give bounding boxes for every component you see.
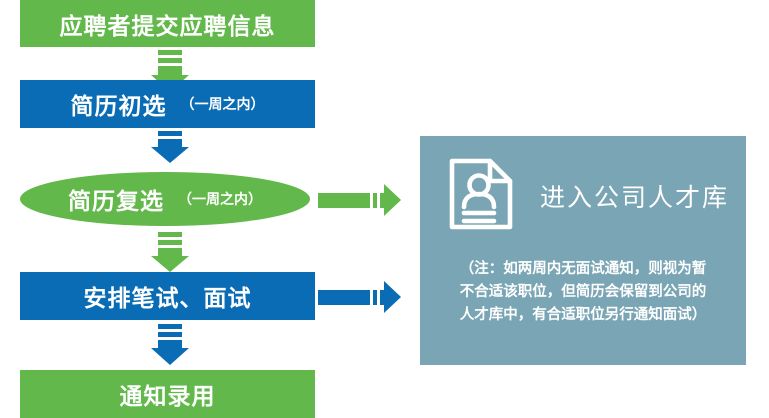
- panel-title: 进入公司人才库: [540, 178, 729, 214]
- connector-stem: [158, 340, 182, 348]
- connector-stem: [158, 139, 182, 147]
- panel-note-line: （注：如两周内无面试通知，则视为暂: [420, 258, 746, 281]
- flow-step-4-label: 安排笔试、面试: [84, 279, 252, 313]
- connector-head: [384, 184, 401, 216]
- connector-tick: [373, 290, 377, 305]
- connector-stem: [158, 248, 182, 256]
- panel-note: （注：如两周内无面试通知，则视为暂 不合适该职位，但简历会保留到公司的 人才库中…: [420, 258, 746, 327]
- flow-step-2-note: （一周之内）: [181, 94, 265, 114]
- connector-bar: [318, 290, 370, 305]
- flow-step-3[interactable]: 简历复选 （一周之内）: [20, 172, 310, 226]
- flow-step-4[interactable]: 安排笔试、面试: [20, 272, 315, 320]
- connector-head: [151, 256, 189, 272]
- connector-down-4: [151, 324, 189, 365]
- flow-step-1[interactable]: 应聘者提交应聘信息: [20, 0, 315, 47]
- connector-right-blue: [318, 281, 401, 313]
- panel-header: 进入公司人才库: [448, 155, 729, 237]
- flow-step-5[interactable]: 通知录用: [20, 370, 315, 418]
- flow-step-3-label: 简历复选: [68, 182, 164, 216]
- flow-step-2-label: 简历初选: [71, 87, 167, 121]
- flow-step-5-label: 通知录用: [120, 377, 216, 411]
- connector-right-green: [318, 184, 401, 216]
- connector-down-2: [151, 131, 189, 163]
- flow-step-2[interactable]: 简历初选 （一周之内）: [20, 80, 315, 128]
- connector-down-3: [151, 232, 189, 272]
- connector-head: [384, 281, 401, 313]
- panel-note-line: 不合适该职位，但简历会保留到公司的: [420, 281, 746, 304]
- talent-pool-panel[interactable]: 进入公司人才库 （注：如两周内无面试通知，则视为暂 不合适该职位，但简历会保留到…: [420, 136, 746, 365]
- connector-bar: [318, 193, 370, 208]
- connector-stem: [158, 66, 182, 75]
- document-person-icon: [448, 155, 516, 237]
- connector-tick: [373, 193, 377, 208]
- flow-step-3-note: （一周之内）: [178, 189, 262, 209]
- flow-step-1-label: 应聘者提交应聘信息: [60, 7, 276, 41]
- connector-head: [151, 147, 189, 163]
- panel-note-line: 人才库中，有合适职位另行通知面试）: [420, 304, 746, 327]
- connector-head: [151, 348, 189, 365]
